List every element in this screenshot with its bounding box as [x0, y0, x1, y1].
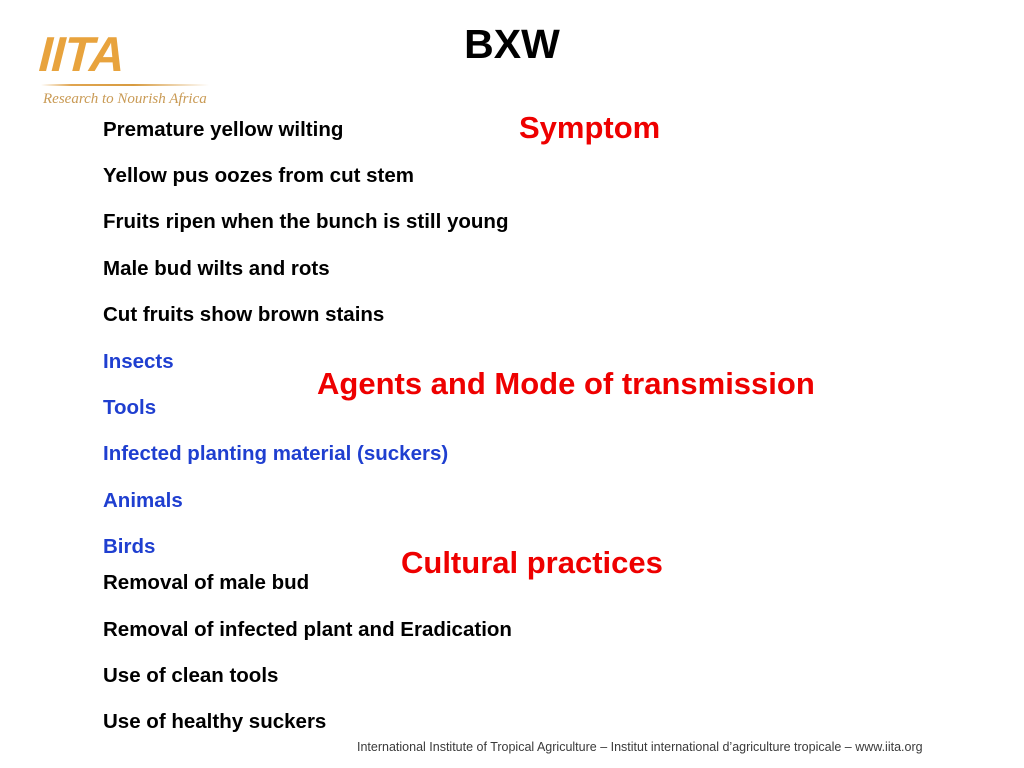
list-item: Premature yellow wilting — [103, 117, 343, 143]
list-item: Fruits ripen when the bunch is still you… — [103, 209, 508, 235]
list-item: Male bud wilts and rots — [103, 256, 330, 282]
slide-canvas: IITA Research to Nourish Africa BXW Symp… — [0, 0, 1024, 768]
slide-title: BXW — [0, 20, 1024, 68]
iita-logo-divider — [41, 84, 209, 86]
list-item: Insects — [103, 349, 174, 375]
list-item: Removal of male bud — [103, 570, 309, 596]
list-item: Tools — [103, 395, 156, 421]
list-item: Infected planting material (suckers) — [103, 441, 448, 467]
list-item: Use of healthy suckers — [103, 709, 326, 735]
list-item: Birds — [103, 534, 155, 560]
slide-footer: International Institute of Tropical Agri… — [357, 739, 923, 755]
iita-logo-tagline: Research to Nourish Africa — [43, 89, 218, 109]
list-item: Cut fruits show brown stains — [103, 302, 384, 328]
section-heading-symptom: Symptom — [519, 111, 660, 145]
list-item: Use of clean tools — [103, 663, 278, 689]
list-item: Yellow pus oozes from cut stem — [103, 163, 414, 189]
section-heading-cultural-practices: Cultural practices — [401, 546, 663, 580]
list-item: Removal of infected plant and Eradicatio… — [103, 617, 512, 643]
section-heading-agents-and-mode-of-transmission: Agents and Mode of transmission — [317, 367, 815, 401]
list-item: Animals — [103, 488, 183, 514]
